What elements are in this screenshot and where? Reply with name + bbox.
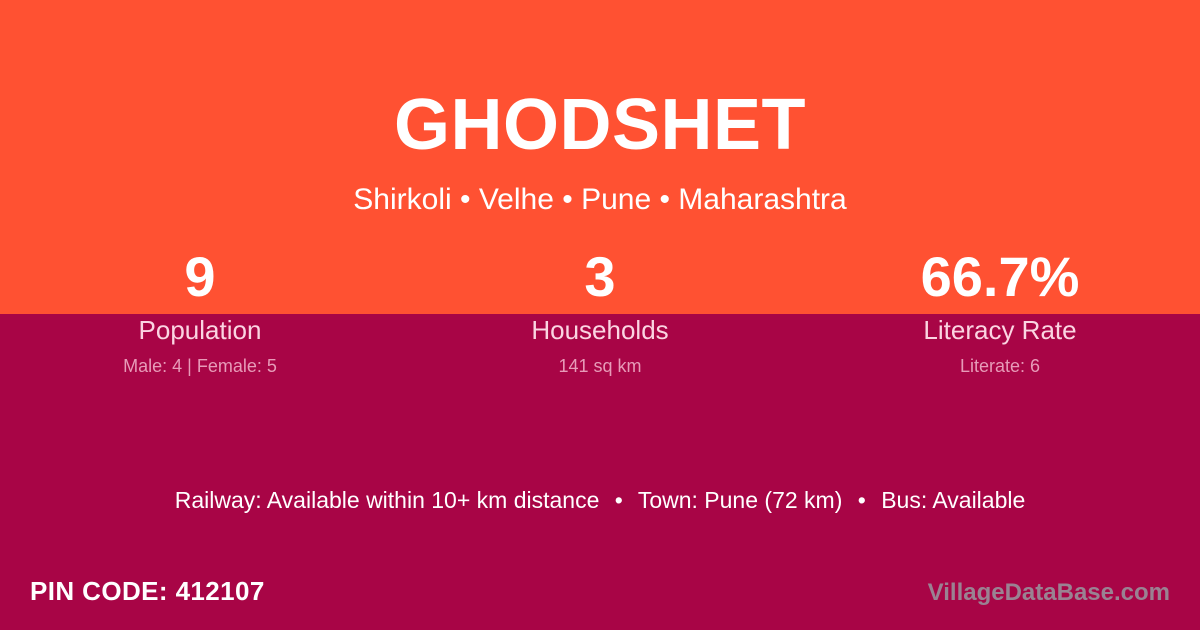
stat-literacy-rate: 66.7% Literacy Rate Literate: 6 [800,240,1200,380]
nearest-town-info: Town: Pune (72 km) [638,487,843,513]
site-watermark: VillageDataBase.com [928,578,1170,608]
bus-info: Bus: Available [881,487,1025,513]
stat-sublabel: Literate: 6 [800,355,1200,377]
page-title: GHODSHET [0,82,1200,168]
amenities-info-bar: Railway: Available within 10+ km distanc… [0,486,1200,514]
bullet-separator-icon: • [849,486,875,514]
stat-value: 9 [0,240,400,314]
pin-code: PIN CODE: 412107 [30,574,265,608]
railway-info: Railway: Available within 10+ km distanc… [175,487,600,513]
breadcrumb: Shirkoli • Velhe • Pune • Maharashtra [0,182,1200,218]
stat-sublabel: 141 sq km [400,355,800,377]
stat-label: Literacy Rate [800,314,1200,346]
village-info-card: GHODSHET Shirkoli • Velhe • Pune • Mahar… [0,0,1200,630]
stats-row: 9 Population Male: 4 | Female: 5 3 House… [0,240,1200,380]
bullet-separator-icon: • [606,486,632,514]
stat-population: 9 Population Male: 4 | Female: 5 [0,240,400,380]
stat-label: Households [400,314,800,346]
stat-label: Population [0,314,400,346]
stat-sublabel: Male: 4 | Female: 5 [0,355,400,377]
stat-households: 3 Households 141 sq km [400,240,800,380]
stat-value: 3 [400,240,800,314]
stat-value: 66.7% [800,240,1200,314]
footer: PIN CODE: 412107 VillageDataBase.com [0,574,1200,614]
